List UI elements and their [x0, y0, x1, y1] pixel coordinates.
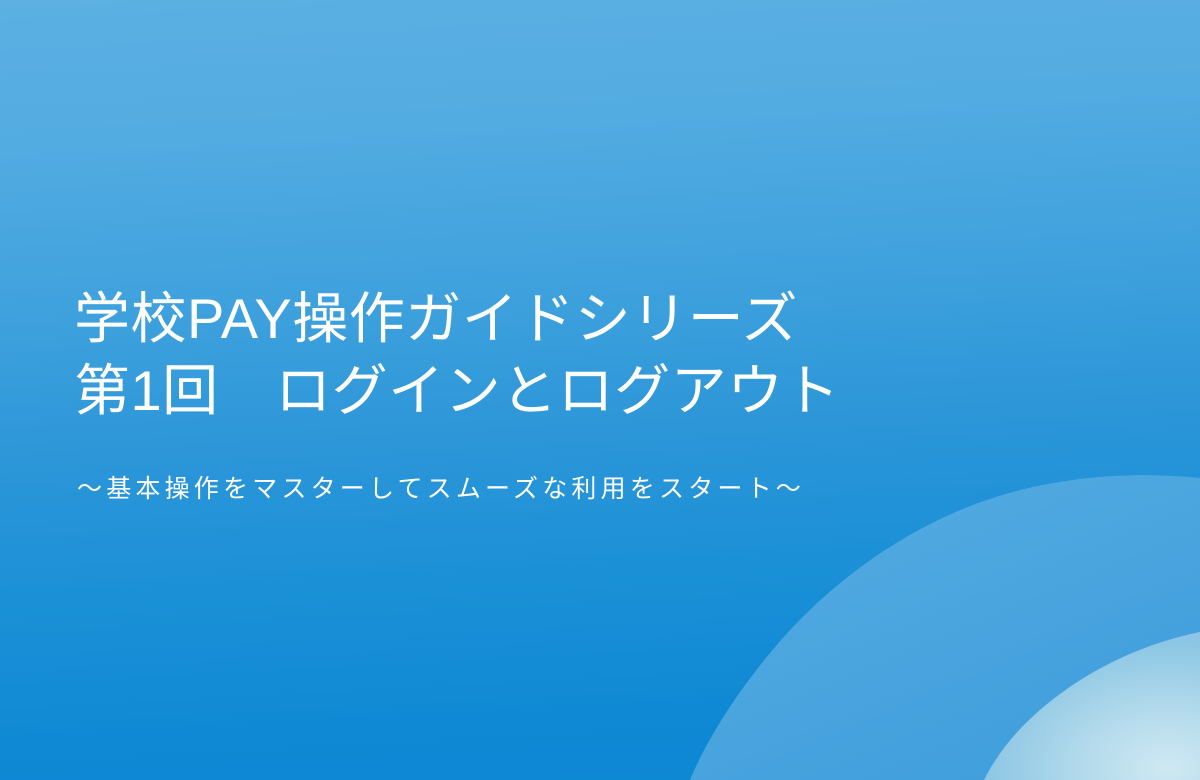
slide-text-block: 学校PAY操作ガイドシリーズ 第1回 ログインとログアウト ～基本操作をマスター… [0, 0, 1200, 780]
page-title: 学校PAY操作ガイドシリーズ 第1回 ログインとログアウト [74, 283, 974, 427]
title-line-2: 第1回 ログインとログアウト [74, 355, 974, 427]
title-slide: 学校PAY操作ガイドシリーズ 第1回 ログインとログアウト ～基本操作をマスター… [0, 0, 1200, 780]
title-line-1: 学校PAY操作ガイドシリーズ [74, 283, 974, 355]
slide-subtitle: ～基本操作をマスターしてスムーズな利用をスタート～ [77, 472, 805, 506]
